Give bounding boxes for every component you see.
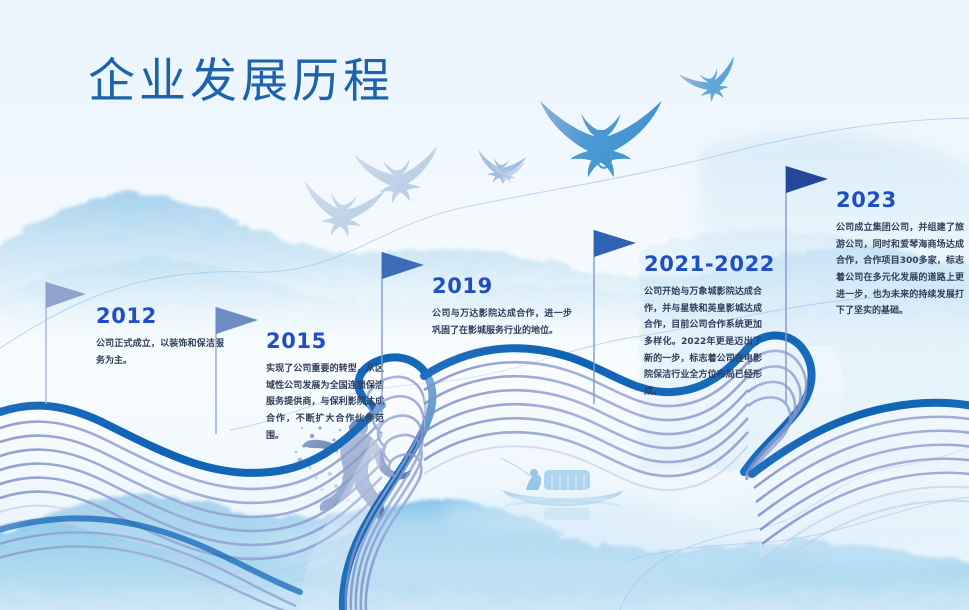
flag-icon (780, 162, 840, 407)
page-title: 企业发展历程 (88, 58, 394, 105)
flag-icon (588, 226, 648, 408)
flag-icon (40, 278, 100, 408)
infographic-canvas: 企业发展历程 2012 公司正式成立，以装饰和保洁服务为主。 2015 实现了公… (0, 0, 969, 610)
milestone-description: 公司开始与万象城影院达成合作，并与星轶和英皇影城达成合作，目前公司合作系统更加多… (644, 284, 762, 400)
flag-icon (210, 303, 270, 438)
milestone-year: 2023 (836, 188, 897, 212)
milestone-description: 公司正式成立，以装饰和保洁服务为主。 (96, 336, 224, 369)
milestone-year: 2015 (266, 329, 327, 353)
flag-icon (376, 248, 436, 418)
milestone-description: 实现了公司重要的转型，从区域性公司发展为全国连锁保洁服务提供商，与保利影院达成合… (266, 361, 384, 444)
milestone-year: 2012 (96, 304, 157, 328)
milestone-year: 2021-2022 (644, 252, 775, 276)
milestone-description: 公司成立集团公司，并组建了旅游公司，同时和爱琴海商场达成合作，合作项目300多家… (836, 220, 964, 320)
milestone-year: 2019 (432, 274, 493, 298)
milestone-description: 公司与万达影院达成合作，进一步巩固了在影城服务行业的地位。 (432, 306, 572, 339)
